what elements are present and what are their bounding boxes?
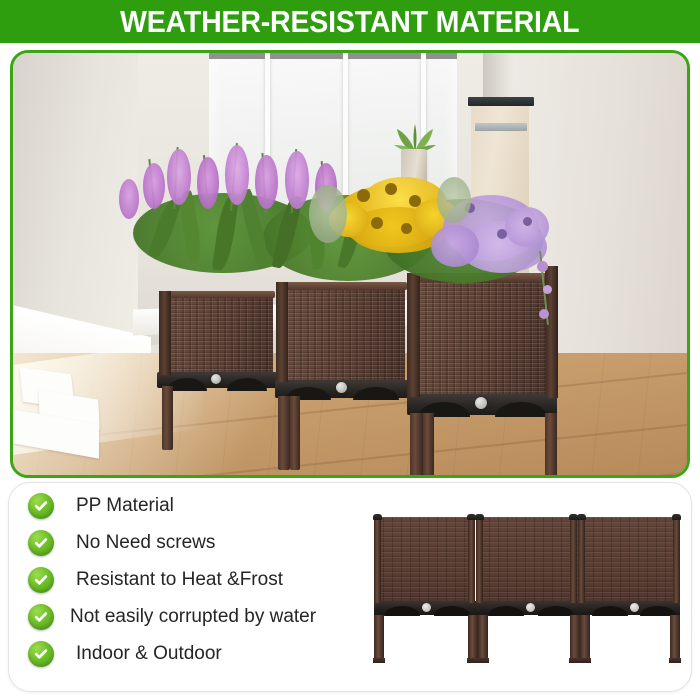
diagram-post [476,519,483,603]
diagram-leg [468,615,478,663]
diagram-drain-cap [526,603,535,612]
diagram-leg [478,615,488,663]
page-title: WEATHER-RESISTANT MATERIAL [120,4,579,40]
diagram-post [374,519,381,603]
door-top-trim [468,97,534,106]
diagram-leg [670,615,680,663]
list-item: Resistant to Heat &Frost [28,561,358,598]
diagram-post-cap [475,514,484,520]
check-circle-icon [28,641,54,667]
check-circle-icon [28,530,54,556]
diagram-leg [570,615,580,663]
diagram-post [468,519,475,603]
planter-leg [162,386,173,450]
drain-cap [211,374,221,384]
diagram-post [570,519,577,603]
check-circle-icon [28,604,54,630]
diagram-drain-cap [422,603,431,612]
product-photo-frame [10,50,690,478]
feature-label: Indoor & Outdoor [76,643,222,665]
diagram-post [578,519,585,603]
diagram-post [673,519,680,603]
drain-cap [336,382,347,393]
list-item: Not easily corrupted by water [28,598,358,635]
diagram-leg-foot [477,658,489,663]
product-photo [13,53,687,475]
planter-box [161,294,273,374]
header-banner: WEATHER-RESISTANT MATERIAL [0,0,700,43]
feature-list: PP Material No Need screws Resistant to … [28,487,358,672]
feature-label: No Need screws [76,532,215,554]
window-header-trim [209,53,457,59]
list-item: No Need screws [28,524,358,561]
check-circle-icon [28,567,54,593]
planter-leg [290,396,300,470]
diagram-post-cap [577,514,586,520]
diagram-leg-foot [579,658,591,663]
feature-label: Resistant to Heat &Frost [76,569,283,591]
flowers-and-foliage [113,133,593,303]
feature-label: PP Material [76,495,174,517]
list-item: Indoor & Outdoor [28,635,358,672]
list-item: PP Material [28,487,358,524]
diagram-leg [580,615,590,663]
diagram-post-cap [373,514,382,520]
product-diagram [358,505,678,675]
diagram-leg-foot [373,658,385,663]
planter-leg [423,413,434,475]
diagram-panel [374,517,474,603]
diagram-panel [584,517,680,603]
door-handle-bar [475,123,527,131]
planter-post [159,291,171,375]
diagram-leg-foot [669,658,681,663]
diagram-panel [480,517,578,603]
planter-leg [545,413,557,475]
diagram-post-cap [672,514,681,520]
feature-label: Not easily corrupted by water [70,606,316,628]
drain-cap [475,397,487,409]
check-circle-icon [28,493,54,519]
planter-leg [410,413,423,475]
diagram-leg [374,615,384,663]
diagram-drain-cap [630,603,639,612]
papers-on-floor [13,365,143,460]
planter-leg [278,396,290,470]
